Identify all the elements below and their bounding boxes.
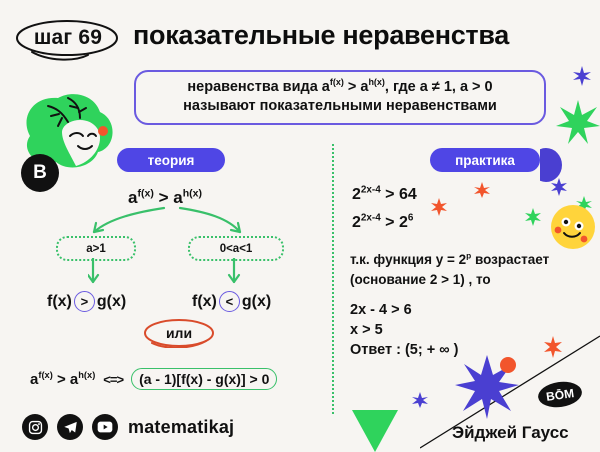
blob-blue-icon (540, 148, 566, 182)
condition-a-between-0-1: 0<a<1 (188, 236, 284, 261)
equiv-left-sup1: f(x) (38, 370, 52, 380)
practice-step1-pre: 2 (352, 186, 361, 203)
theory-result-left-post: g(x) (97, 293, 126, 311)
definition-line1-mid: > a (344, 79, 369, 95)
practice-step2-pre: 2 (352, 214, 361, 231)
definition-line1-post: , где a ≠ 1, a > 0 (385, 79, 493, 95)
star-large-green-icon (556, 100, 600, 144)
definition-line1-sup2: h(x) (368, 77, 384, 87)
definition-line-1: неравенства вида af(x) > ah(x), где a ≠ … (144, 78, 536, 97)
definition-line-2: называют показательными неравенствами (144, 97, 536, 116)
theory-result-left: f(x) > g(x) (47, 291, 126, 312)
practice-note-line-2: (основание 2 > 1) , то (350, 272, 491, 287)
author-name: Эйджей Гаусс (452, 423, 569, 443)
branch-arrows-icon (60, 206, 280, 240)
star-burst-blue-icon (455, 355, 519, 419)
condition-a-greater-1: a>1 (56, 236, 136, 261)
practice-step2-mid: > 2 (381, 214, 408, 231)
equiv-left-mid: > a (53, 371, 78, 388)
theory-equivalence: af(x) > ah(x) <=> (a - 1)[f(x) - g(x)] >… (30, 368, 277, 390)
practice-step-3: 2x - 4 > 6 (350, 302, 412, 318)
star-small-purple-icon (572, 66, 592, 86)
youtube-icon[interactable] (92, 414, 118, 440)
infographic-slide: шаг 69 показательные неравенства неравен… (0, 0, 600, 451)
practice-step1-post: > 64 (381, 186, 417, 203)
theory-top-mid: > a (154, 188, 183, 207)
practice-step1-sup: 2x-4 (361, 185, 381, 196)
down-arrows-icon (88, 258, 248, 288)
bom-badge: BŌM (536, 379, 583, 410)
equiv-boxed-expression: (a - 1)[f(x) - g(x)] > 0 (131, 368, 277, 390)
or-marker: или (140, 318, 218, 348)
social-links[interactable] (22, 414, 118, 440)
theory-result-left-pre: f(x) (47, 293, 72, 311)
practice-step-4: x > 5 (350, 322, 383, 338)
instagram-icon[interactable] (22, 414, 48, 440)
practice-step2-sup2: 6 (408, 213, 414, 224)
letter-b-badge: B (21, 154, 59, 192)
step-badge-label: шаг 69 (34, 26, 102, 50)
star-green-mid-icon (524, 208, 542, 226)
column-divider (332, 144, 334, 414)
practice-answer: Ответ : (5; + ∞ ) (350, 342, 458, 358)
tab-practice[interactable]: практика (430, 148, 540, 172)
definition-line1-pre: неравенства вида a (187, 79, 329, 95)
page-title: показательные неравенства (133, 20, 509, 51)
tab-theory[interactable]: теория (117, 148, 225, 172)
instagram-glyph-icon (28, 420, 43, 435)
theory-result-right-post: g(x) (242, 293, 271, 311)
operator-less-icon: < (219, 291, 240, 312)
star-tiny-blue-icon (412, 392, 428, 408)
theory-result-right: f(x) < g(x) (192, 291, 271, 312)
or-label: или (140, 318, 218, 348)
definition-line1-sup1: f(x) (330, 77, 344, 87)
definition-box: неравенства вида af(x) > ah(x), где a ≠ … (134, 70, 546, 125)
star-small-orange-icon (474, 182, 490, 198)
equivalence-arrow-icon: <=> (103, 372, 123, 387)
dot-orange-icon (498, 355, 518, 375)
theory-top-sup2: h(x) (183, 187, 202, 199)
practice-step-1: 22x-4 > 64 (352, 186, 417, 204)
smiley-face-icon (548, 202, 598, 252)
triangle-green-icon (352, 406, 398, 452)
theory-top-sup1: f(x) (137, 187, 153, 199)
step-badge: шаг 69 (14, 18, 122, 58)
social-handle: matematikaj (128, 417, 234, 438)
practice-step-2: 22x-4 > 26 (352, 214, 413, 232)
star-orange-icon (430, 198, 448, 216)
star-tiny-purple-icon (550, 178, 568, 196)
youtube-glyph-icon (97, 421, 113, 433)
theory-result-right-pre: f(x) (192, 293, 217, 311)
star-orange-line-icon (542, 336, 564, 358)
star-tiny-green-icon (576, 196, 592, 212)
theory-top-formula: af(x) > ah(x) (128, 188, 202, 208)
practice-note1-post: возрастает (471, 252, 549, 267)
practice-note1-pre: т.к. функция y = 2 (350, 252, 466, 267)
operator-greater-icon: > (74, 291, 95, 312)
telegram-icon[interactable] (57, 414, 83, 440)
practice-note-line-1: т.к. функция y = 2p возрастает (350, 252, 549, 267)
telegram-glyph-icon (63, 420, 78, 435)
equiv-left-sup2: h(x) (78, 370, 95, 380)
practice-step2-sup: 2x-4 (361, 213, 381, 224)
equiv-left-formula: af(x) > ah(x) (30, 371, 95, 388)
